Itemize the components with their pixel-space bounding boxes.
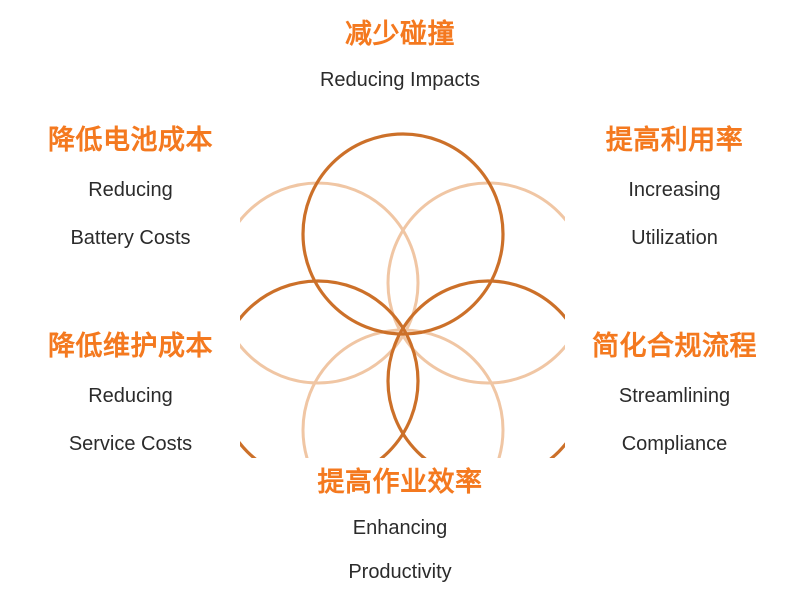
label-right-upper-en-line2: Utilization: [552, 222, 797, 254]
label-left-upper-en-line1: Reducing: [8, 174, 253, 206]
label-right-lower-en-line2: Compliance: [552, 428, 797, 460]
label-bottom-en-line2: Productivity: [250, 556, 550, 588]
circle-bottom: [303, 330, 503, 458]
label-bottom-cn: 提高作业效率: [250, 466, 550, 500]
label-right-upper-en-line1: Increasing: [552, 174, 797, 206]
label-reducing-impacts: 减少碰撞 Reducing Impacts: [250, 18, 550, 96]
venn-circles-svg: [240, 128, 565, 458]
label-reducing-battery-costs: 降低电池成本 Reducing Battery Costs: [8, 124, 253, 255]
label-left-lower-en-line1: Reducing: [8, 380, 253, 412]
label-streamlining-compliance: 简化合规流程 Streamlining Compliance: [552, 330, 797, 461]
label-top-cn: 减少碰撞: [250, 18, 550, 52]
label-top-en-line1: Reducing Impacts: [250, 64, 550, 96]
label-increasing-utilization: 提高利用率 Increasing Utilization: [552, 124, 797, 255]
label-left-upper-en-line2: Battery Costs: [8, 222, 253, 254]
slide-canvas: 减少碰撞 Reducing Impacts 降低电池成本 Reducing Ba…: [0, 0, 800, 589]
label-left-lower-cn: 降低维护成本: [8, 330, 253, 364]
venn-diagram: [240, 128, 565, 458]
label-enhancing-productivity: 提高作业效率 Enhancing Productivity: [250, 466, 550, 589]
label-right-lower-cn: 简化合规流程: [552, 330, 797, 364]
label-right-lower-en-line1: Streamlining: [552, 380, 797, 412]
label-left-lower-en-line2: Service Costs: [8, 428, 253, 460]
label-reducing-service-costs: 降低维护成本 Reducing Service Costs: [8, 330, 253, 461]
label-left-upper-cn: 降低电池成本: [8, 124, 253, 158]
label-bottom-en-line1: Enhancing: [250, 512, 550, 544]
circle-top: [303, 134, 503, 334]
label-right-upper-cn: 提高利用率: [552, 124, 797, 158]
